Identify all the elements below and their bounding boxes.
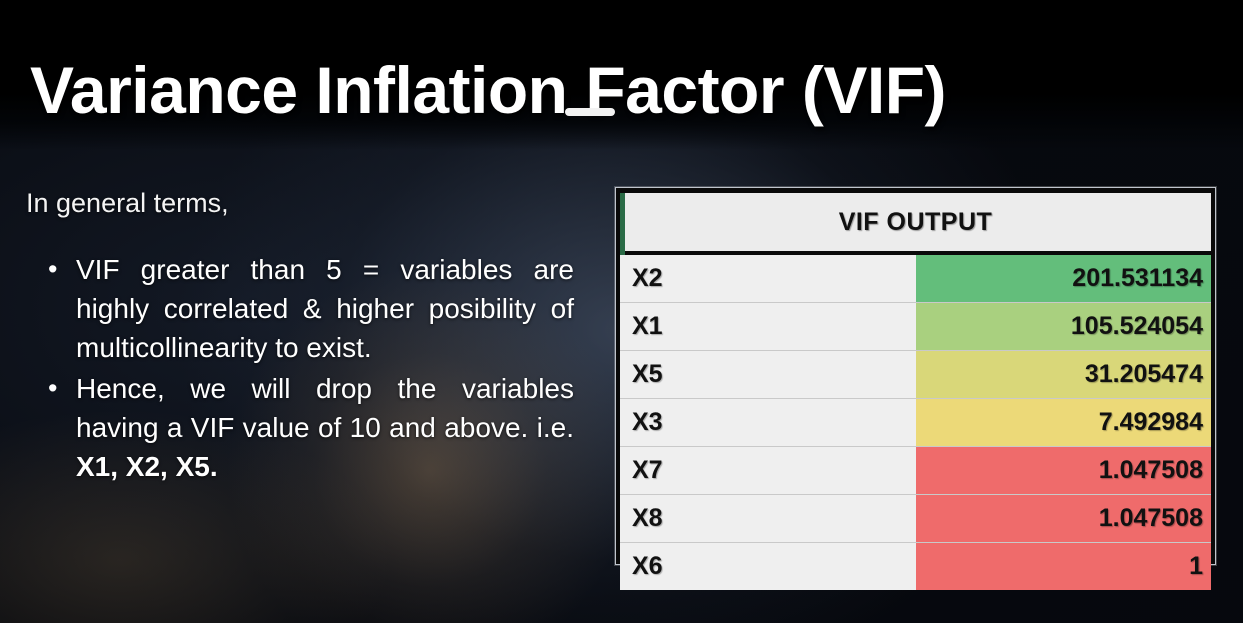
table-cell-variable: X7: [620, 447, 916, 495]
slide-canvas: Variance Inflation Factor (VIF) In gener…: [0, 0, 1243, 623]
vif-output-table-inner: VIF OUTPUT X2201.531134X1105.524054X531.…: [616, 188, 1215, 564]
bullet-text-1: VIF greater than 5 = variables are highl…: [76, 250, 574, 367]
table-head: VIF OUTPUT: [620, 193, 1211, 253]
table-row: X1105.524054: [620, 303, 1211, 351]
table-cell-vif-value: 1.047508: [916, 447, 1212, 495]
table-cell-vif-value: 105.524054: [916, 303, 1212, 351]
table-row: X2201.531134: [620, 253, 1211, 303]
table-row: X531.205474: [620, 351, 1211, 399]
table-row: X81.047508: [620, 495, 1211, 543]
table-cell-vif-value: 1: [916, 543, 1212, 591]
table-cell-vif-value: 1.047508: [916, 495, 1212, 543]
page-title: Variance Inflation Factor (VIF): [30, 52, 1180, 128]
list-item: • Hence, we will drop the variables havi…: [26, 369, 574, 486]
table-row: X61: [620, 543, 1211, 591]
bullet-text-2-plain: Hence, we will drop the variables having…: [76, 373, 574, 443]
table-cell-variable: X5: [620, 351, 916, 399]
table-cell-vif-value: 7.492984: [916, 399, 1212, 447]
title-divider: [565, 108, 615, 116]
intro-text: In general terms,: [26, 186, 574, 220]
list-item: • VIF greater than 5 = variables are hig…: [26, 250, 574, 367]
table-cell-variable: X6: [620, 543, 916, 591]
table-header-row: VIF OUTPUT: [620, 193, 1211, 253]
left-text-column: In general terms, • VIF greater than 5 =…: [26, 186, 574, 488]
table-cell-vif-value: 201.531134: [916, 253, 1212, 303]
table-cell-variable: X2: [620, 253, 916, 303]
table-body: X2201.531134X1105.524054X531.205474X37.4…: [620, 253, 1211, 590]
bullet-marker-icon: •: [26, 250, 76, 289]
bullet-text-2-emphasis: X1, X2, X5.: [76, 451, 218, 482]
table-cell-variable: X8: [620, 495, 916, 543]
bullet-text-2: Hence, we will drop the variables having…: [76, 369, 574, 486]
table-header-title: VIF OUTPUT: [620, 193, 1211, 253]
green-column-edge-marker: [620, 193, 625, 255]
table-cell-variable: X3: [620, 399, 916, 447]
table-row: X37.492984: [620, 399, 1211, 447]
vif-output-table-frame: VIF OUTPUT X2201.531134X1105.524054X531.…: [615, 187, 1216, 565]
bullet-marker-icon: •: [26, 369, 76, 408]
table-cell-variable: X1: [620, 303, 916, 351]
vif-output-table: VIF OUTPUT X2201.531134X1105.524054X531.…: [620, 193, 1211, 590]
table-cell-vif-value: 31.205474: [916, 351, 1212, 399]
table-row: X71.047508: [620, 447, 1211, 495]
